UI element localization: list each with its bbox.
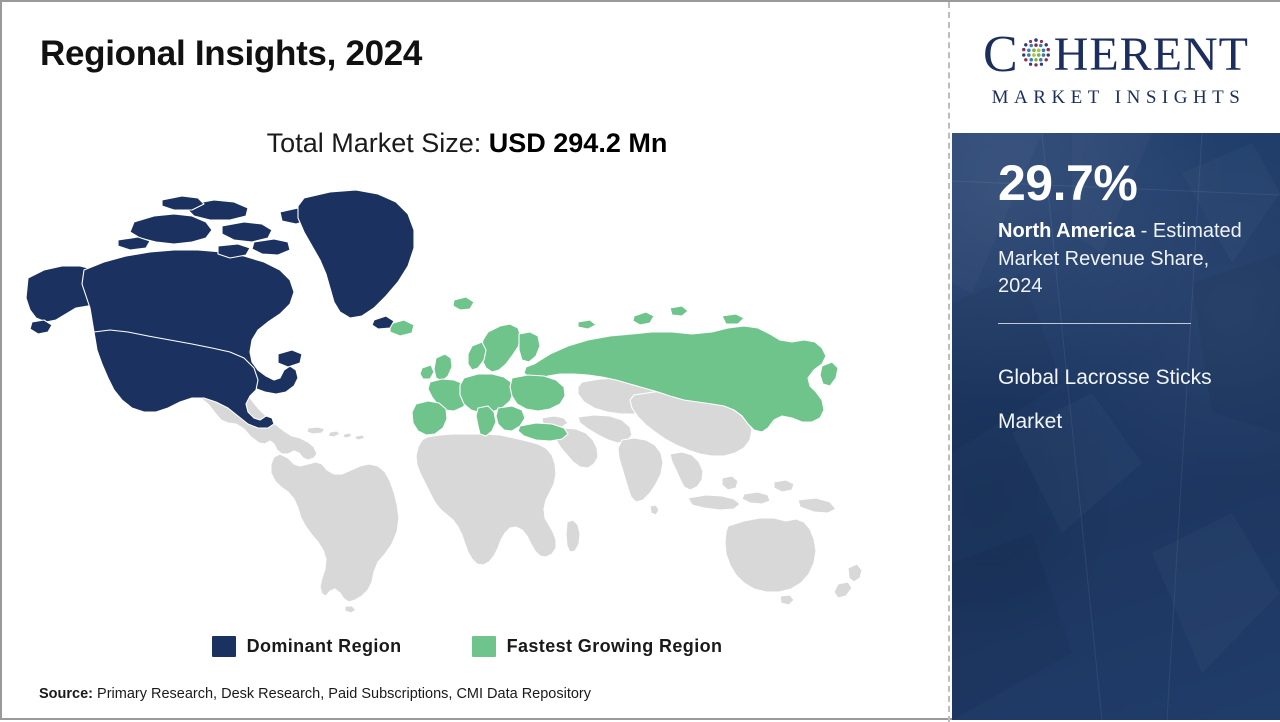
legend-label-fastest-growing: Fastest Growing Region xyxy=(507,636,723,657)
page-title: Regional Insights, 2024 xyxy=(40,34,422,74)
stat-panel-content: 29.7% North America - Estimated Market R… xyxy=(952,133,1280,445)
total-market-size: Total Market Size: USD 294.2 Mn xyxy=(2,128,932,159)
logo-letter-c: C xyxy=(983,29,1019,81)
market-name-line1: Global Lacrosse Sticks xyxy=(998,356,1247,401)
fastest-growing-region-swatch xyxy=(472,636,496,657)
logo-tagline: MARKET INSIGHTS xyxy=(987,87,1246,109)
world-map xyxy=(22,182,922,622)
legend-item-dominant: Dominant Region xyxy=(212,636,402,657)
slide-root: Regional Insights, 2024 Total Market Siz… xyxy=(0,0,1280,720)
share-region-name: North America xyxy=(998,220,1135,242)
logo-wordmark: C xyxy=(983,27,1249,83)
logo-wordmark-text: HERENT xyxy=(1054,31,1249,79)
share-description: North America - Estimated Market Revenue… xyxy=(998,218,1247,301)
source-text: Primary Research, Desk Research, Paid Su… xyxy=(97,686,591,702)
world-map-svg xyxy=(22,182,922,622)
vertical-dashed-divider xyxy=(948,2,950,722)
market-name: Global Lacrosse Sticks Market xyxy=(998,356,1247,445)
stat-panel: 29.7% North America - Estimated Market R… xyxy=(952,133,1280,720)
source-note: Source: Primary Research, Desk Research,… xyxy=(39,686,591,702)
map-region-dominant xyxy=(26,190,414,428)
legend-item-fastest-growing: Fastest Growing Region xyxy=(472,636,723,657)
legend-label-dominant: Dominant Region xyxy=(247,636,402,657)
source-label: Source: xyxy=(39,686,93,702)
total-market-size-value: USD 294.2 Mn xyxy=(489,128,668,158)
dominant-region-swatch xyxy=(212,636,236,657)
panel-divider-rule xyxy=(998,323,1191,324)
map-legend: Dominant Region Fastest Growing Region xyxy=(2,636,932,657)
brand-logo: C xyxy=(952,4,1280,131)
total-market-size-label: Total Market Size: xyxy=(267,128,482,158)
share-percentage: 29.7% xyxy=(998,158,1247,208)
globe-dots-icon xyxy=(1019,36,1053,70)
market-name-line2: Market xyxy=(998,400,1247,445)
